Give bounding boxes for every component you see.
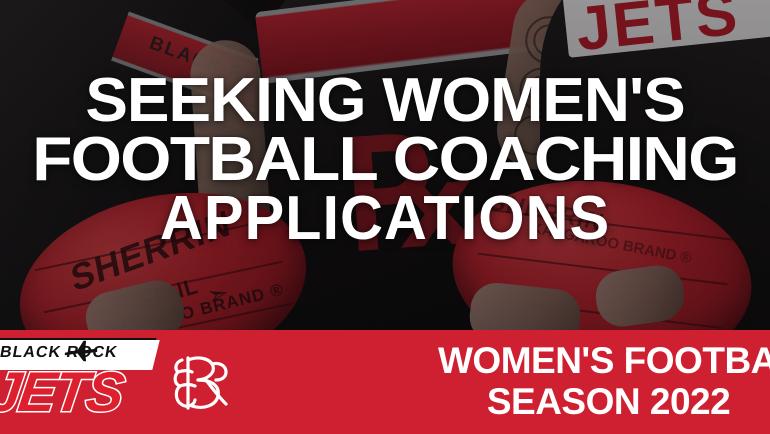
headline-line-2: FOOTBALL COACHING <box>0 131 770 190</box>
poster-graphic: BLACK ROCK ℞ JETS SHERRIN SFNL KANGAROO … <box>0 0 770 434</box>
headline: SEEKING WOMEN'S FOOTBALL COACHING APPLIC… <box>0 72 770 249</box>
banner-text-block: WOMEN'S FOOTBALL SEASON 2022 <box>438 342 770 420</box>
headline-line-3: APPLICATIONS <box>15 190 754 249</box>
headline-line-1: SEEKING WOMEN'S <box>0 72 770 131</box>
club-logo: BLACK ROCK JETS <box>0 334 154 426</box>
logo-jets-text: JETS <box>0 364 126 420</box>
banner-line-2: SEASON 2022 <box>438 383 770 420</box>
banner-line-1: WOMEN'S FOOTBALL <box>438 342 770 379</box>
br-monogram-icon <box>168 348 240 420</box>
bottom-banner: BLACK ROCK JETS <box>0 330 770 434</box>
